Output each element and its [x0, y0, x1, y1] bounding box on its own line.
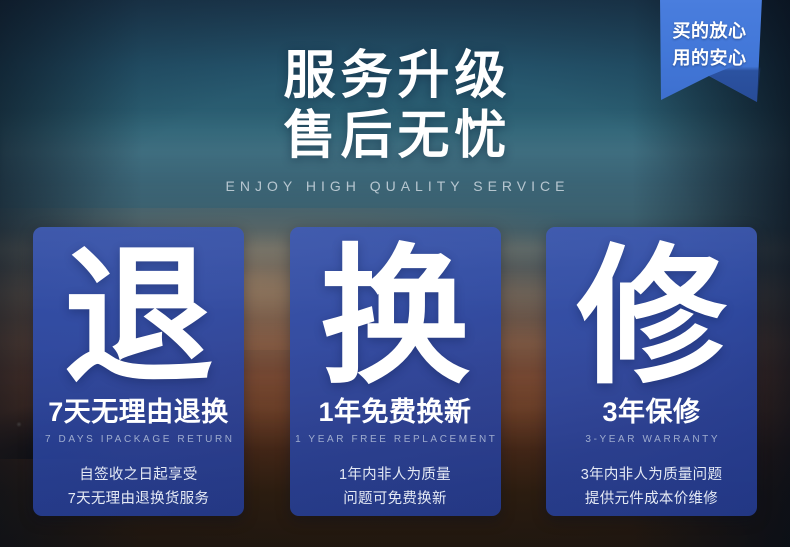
card-english-text: 3-YEAR WARRANTY — [583, 434, 720, 445]
card-description-line-2: 提供元件成本价维修 — [581, 487, 723, 511]
hero-title-line-1: 服务升级 — [0, 46, 790, 106]
card-glyph: 退 — [63, 233, 213, 401]
card-description: 自签收之日起享受 7天无理由退换货服务 — [68, 463, 210, 511]
card-english-text: 1 YEAR FREE REPLACEMENT — [292, 434, 497, 445]
service-card-return[interactable]: 退 7天无理由退换 7 DAYS IPACKAGE RETURN 自签收之日起享… — [33, 227, 244, 516]
card-headline: 1年免费换新 — [318, 397, 471, 427]
hero-heading: 服务升级 售后无忧 ENJOY HIGH QUALITY SERVICE — [0, 46, 790, 194]
ribbon-line-1: 买的放心 — [657, 18, 762, 45]
hero-title-line-2: 售后无忧 — [0, 106, 790, 166]
card-headline: 7天无理由退换 — [48, 397, 229, 427]
card-description-line-1: 自签收之日起享受 — [68, 463, 210, 487]
card-glyph: 换 — [320, 233, 470, 401]
service-card-exchange[interactable]: 换 1年免费换新 1 YEAR FREE REPLACEMENT 1年内非人为质… — [290, 227, 501, 516]
promo-banner: 买的放心 用的安心 服务升级 售后无忧 ENJOY HIGH QUALITY S… — [0, 0, 790, 547]
card-description-line-1: 1年内非人为质量 — [339, 463, 451, 487]
card-headline: 3年保修 — [602, 397, 700, 427]
card-description: 3年内非人为质量问题 提供元件成本价维修 — [581, 463, 723, 511]
service-card-repair[interactable]: 修 3年保修 3-YEAR WARRANTY 3年内非人为质量问题 提供元件成本… — [546, 227, 757, 516]
card-description-line-1: 3年内非人为质量问题 — [581, 463, 723, 487]
hero-subtitle: ENJOY HIGH QUALITY SERVICE — [0, 178, 790, 194]
card-description: 1年内非人为质量 问题可免费换新 — [339, 463, 451, 511]
card-description-line-2: 问题可免费换新 — [339, 487, 451, 511]
card-english-text: 7 DAYS IPACKAGE RETURN — [42, 434, 234, 445]
service-card-list: 退 7天无理由退换 7 DAYS IPACKAGE RETURN 自签收之日起享… — [33, 227, 757, 516]
card-description-line-2: 7天无理由退换货服务 — [68, 487, 210, 511]
card-glyph: 修 — [576, 233, 726, 401]
